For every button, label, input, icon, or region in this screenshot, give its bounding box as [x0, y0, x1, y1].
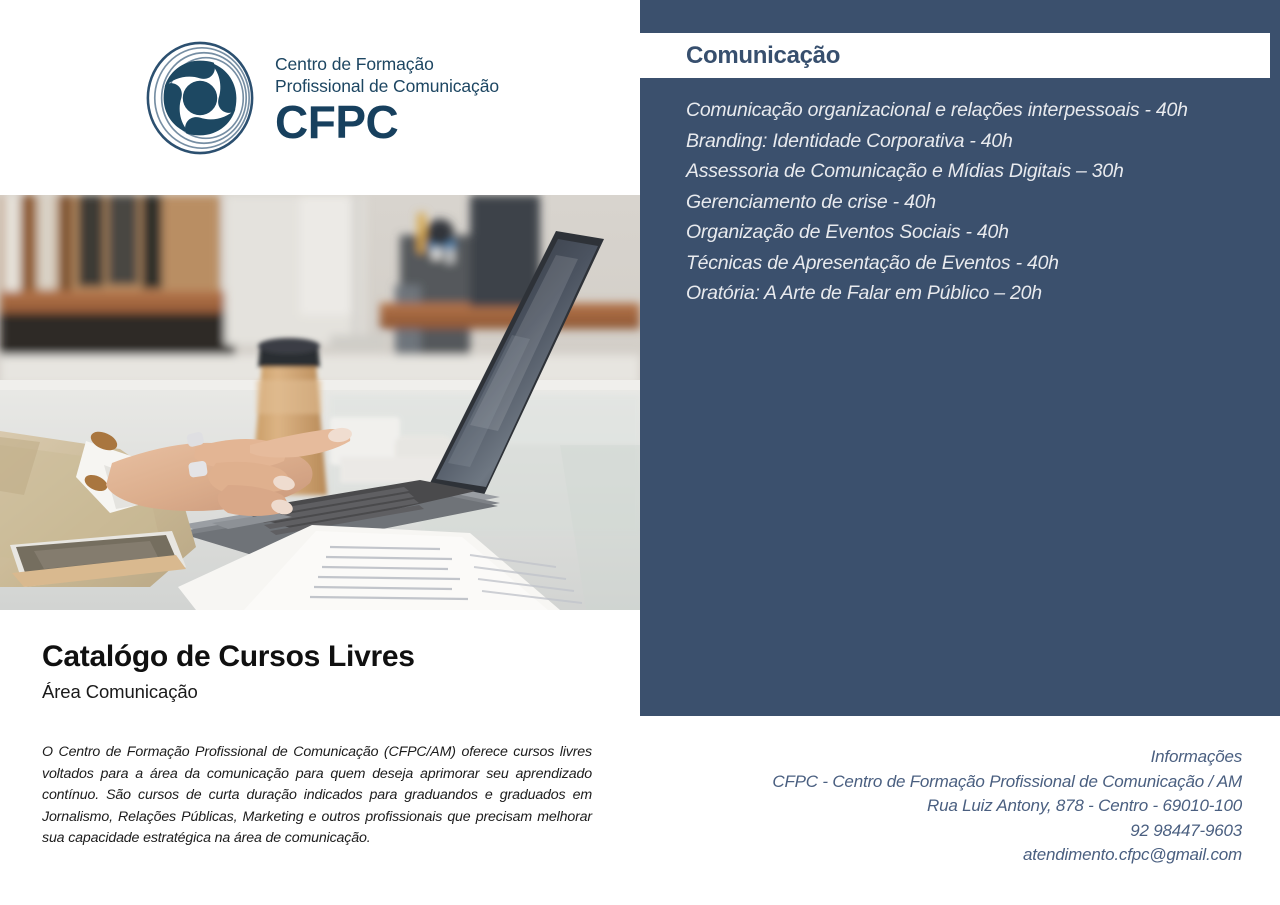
- catalog-description: O Centro de Formação Profissional de Com…: [42, 742, 592, 850]
- brand-logo-block: Centro de Formação Profissional de Comun…: [0, 0, 640, 195]
- list-item: Oratória: A Arte de Falar em Público – 2…: [686, 278, 1266, 309]
- list-item: Branding: Identidade Corporativa - 40h: [686, 126, 1266, 157]
- woman-typing-laptop-photo: [0, 195, 640, 610]
- brand-line-1: Centro de Formação: [275, 53, 499, 75]
- courses-panel-header: Comunicação: [640, 33, 1270, 78]
- brand-line-2: Profissional de Comunicação: [275, 75, 499, 97]
- course-list: Comunicação organizacional e relações in…: [686, 95, 1266, 309]
- left-column: Centro de Formação Profissional de Comun…: [0, 0, 640, 905]
- catalog-title-block: Catalógo de Cursos Livres Área Comunicaç…: [42, 640, 602, 703]
- list-item: Gerenciamento de crise - 40h: [686, 187, 1266, 218]
- hero-photo: [0, 195, 640, 610]
- contact-organization: CFPC - Centro de Formação Profissional d…: [682, 770, 1242, 795]
- page-subtitle: Área Comunicação: [42, 681, 602, 703]
- contact-address: Rua Luiz Antony, 878 - Centro - 69010-10…: [682, 794, 1242, 819]
- contact-phone: 92 98447-9603: [682, 819, 1242, 844]
- contact-info: Informações CFPC - Centro de Formação Pr…: [682, 745, 1242, 868]
- list-item: Técnicas de Apresentação de Eventos - 40…: [686, 248, 1266, 279]
- right-column: Comunicação Comunicação organizacional e…: [640, 0, 1280, 905]
- courses-panel-title: Comunicação: [640, 42, 840, 70]
- list-item: Comunicação organizacional e relações in…: [686, 95, 1266, 126]
- aperture-iris-icon: [141, 39, 259, 157]
- brand-logo-text: Centro de Formação Profissional de Comun…: [275, 49, 499, 147]
- page-title: Catalógo de Cursos Livres: [42, 640, 602, 673]
- contact-email: atendimento.cfpc@gmail.com: [682, 843, 1242, 868]
- catalog-page: Centro de Formação Profissional de Comun…: [0, 0, 1280, 905]
- list-item: Organização de Eventos Sociais - 40h: [686, 217, 1266, 248]
- courses-panel: Comunicação Comunicação organizacional e…: [640, 0, 1280, 716]
- contact-heading: Informações: [682, 745, 1242, 770]
- list-item: Assessoria de Comunicação e Mídias Digit…: [686, 156, 1266, 187]
- brand-acronym: CFPC: [275, 98, 499, 147]
